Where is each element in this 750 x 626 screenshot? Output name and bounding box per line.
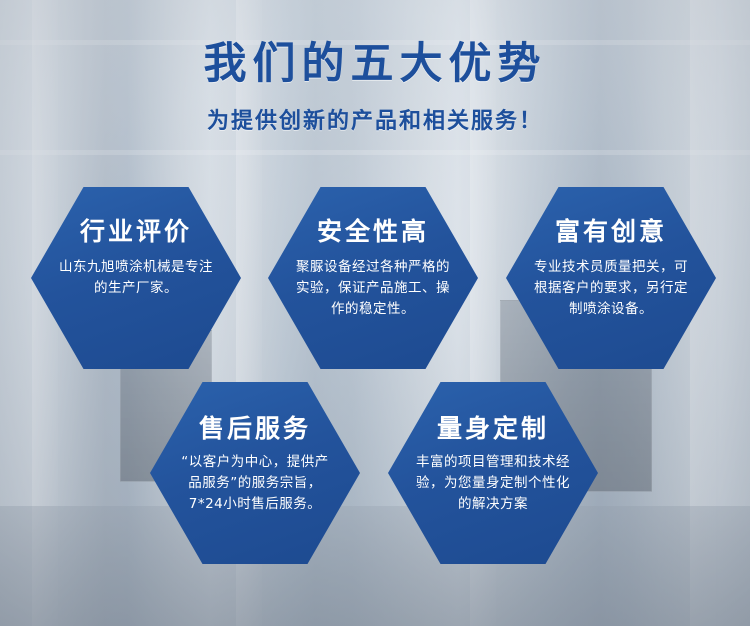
advantage-card-title: 行业评价 (57, 217, 215, 247)
advantage-card-body: 山东九旭喷涂机械是专注的生产厂家。 (57, 257, 215, 299)
advantage-card-body: 专业技术员质量把关，可根据客户的要求，另行定制喷涂设备。 (532, 257, 690, 320)
advantage-card-title: 富有创意 (532, 217, 690, 247)
advantage-card-title: 量身定制 (414, 414, 572, 444)
header-block: 我们的五大优势 为提供创新的产品和相关服务！ (0, 40, 750, 135)
advantage-card-body: 丰富的项目管理和技术经验，为您量身定制个性化的解决方案 (414, 452, 572, 515)
advantage-card-title: 安全性高 (294, 217, 452, 247)
page-subtitle: 为提供创新的产品和相关服务！ (0, 103, 750, 135)
advantage-card-title: 售后服务 (176, 414, 334, 444)
advantage-card-body: 聚脲设备经过各种严格的实验，保证产品施工、操作的稳定性。 (294, 257, 452, 320)
page-title: 我们的五大优势 (0, 40, 750, 89)
advantage-card-body: “以客户为中心，提供产品服务”的服务宗旨，7*24小时售后服务。 (176, 452, 334, 515)
advantages-banner: 我们的五大优势 为提供创新的产品和相关服务！ 行业评价 山东九旭喷涂机械是专注的… (0, 0, 750, 626)
